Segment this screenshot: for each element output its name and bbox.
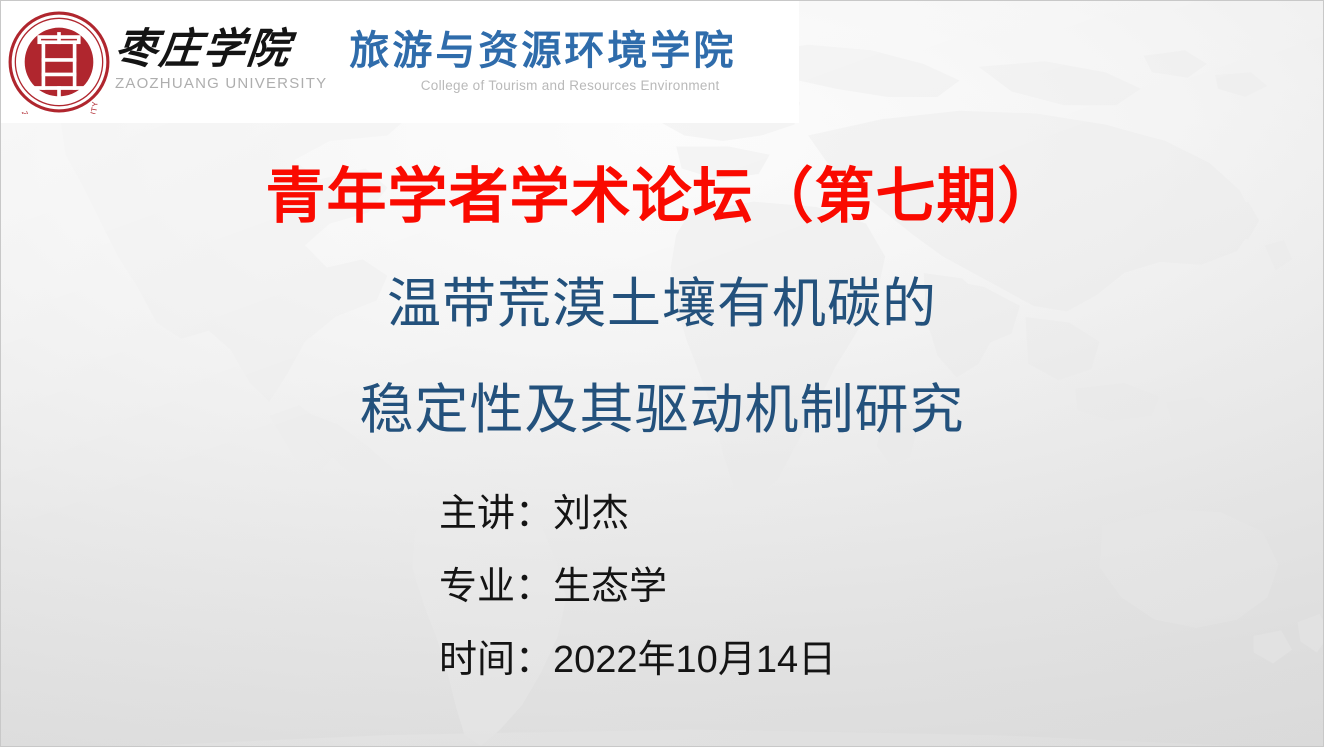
speaker-label: 主讲： bbox=[439, 493, 553, 535]
detail-row-date: 时间：2022年10月14日 bbox=[439, 641, 836, 679]
major-label: 专业： bbox=[439, 566, 553, 608]
speaker-value: 刘杰 bbox=[553, 493, 629, 535]
subject-line-2: 稳定性及其驱动机制研究 bbox=[1, 379, 1323, 443]
university-seal-icon: ZAOZHUANG UNIVERSITY bbox=[7, 10, 111, 114]
university-name-cn: 枣庄学院 bbox=[113, 28, 330, 72]
forum-title: 青年学者学术论坛（第七期） bbox=[1, 164, 1323, 230]
college-name-block: 旅游与资源环境学院 College of Tourism and Resourc… bbox=[349, 29, 799, 95]
presentation-details: 主讲：刘杰 专业：生态学 时间：2022年10月14日 bbox=[439, 495, 836, 679]
college-name-cn: 旅游与资源环境学院 bbox=[349, 29, 799, 73]
subject-line-1: 温带荒漠土壤有机碳的 bbox=[1, 273, 1323, 337]
presentation-title-slide: ZAOZHUANG UNIVERSITY 枣庄学院 ZAOZHUANG UNIV… bbox=[0, 0, 1324, 747]
detail-row-major: 专业：生态学 bbox=[439, 568, 836, 606]
date-label: 时间： bbox=[439, 639, 553, 681]
university-name-en: ZAOZHUANG UNIVERSITY bbox=[115, 75, 327, 92]
major-value: 生态学 bbox=[553, 566, 667, 608]
university-name-block: 枣庄学院 ZAOZHUANG UNIVERSITY bbox=[115, 28, 327, 95]
institution-header-band: ZAOZHUANG UNIVERSITY 枣庄学院 ZAOZHUANG UNIV… bbox=[1, 1, 799, 123]
presentation-subject: 温带荒漠土壤有机碳的 稳定性及其驱动机制研究 bbox=[1, 273, 1323, 442]
college-name-en: College of Tourism and Resources Environ… bbox=[349, 78, 799, 93]
date-value: 2022年10月14日 bbox=[553, 639, 836, 681]
detail-row-speaker: 主讲：刘杰 bbox=[439, 495, 836, 533]
